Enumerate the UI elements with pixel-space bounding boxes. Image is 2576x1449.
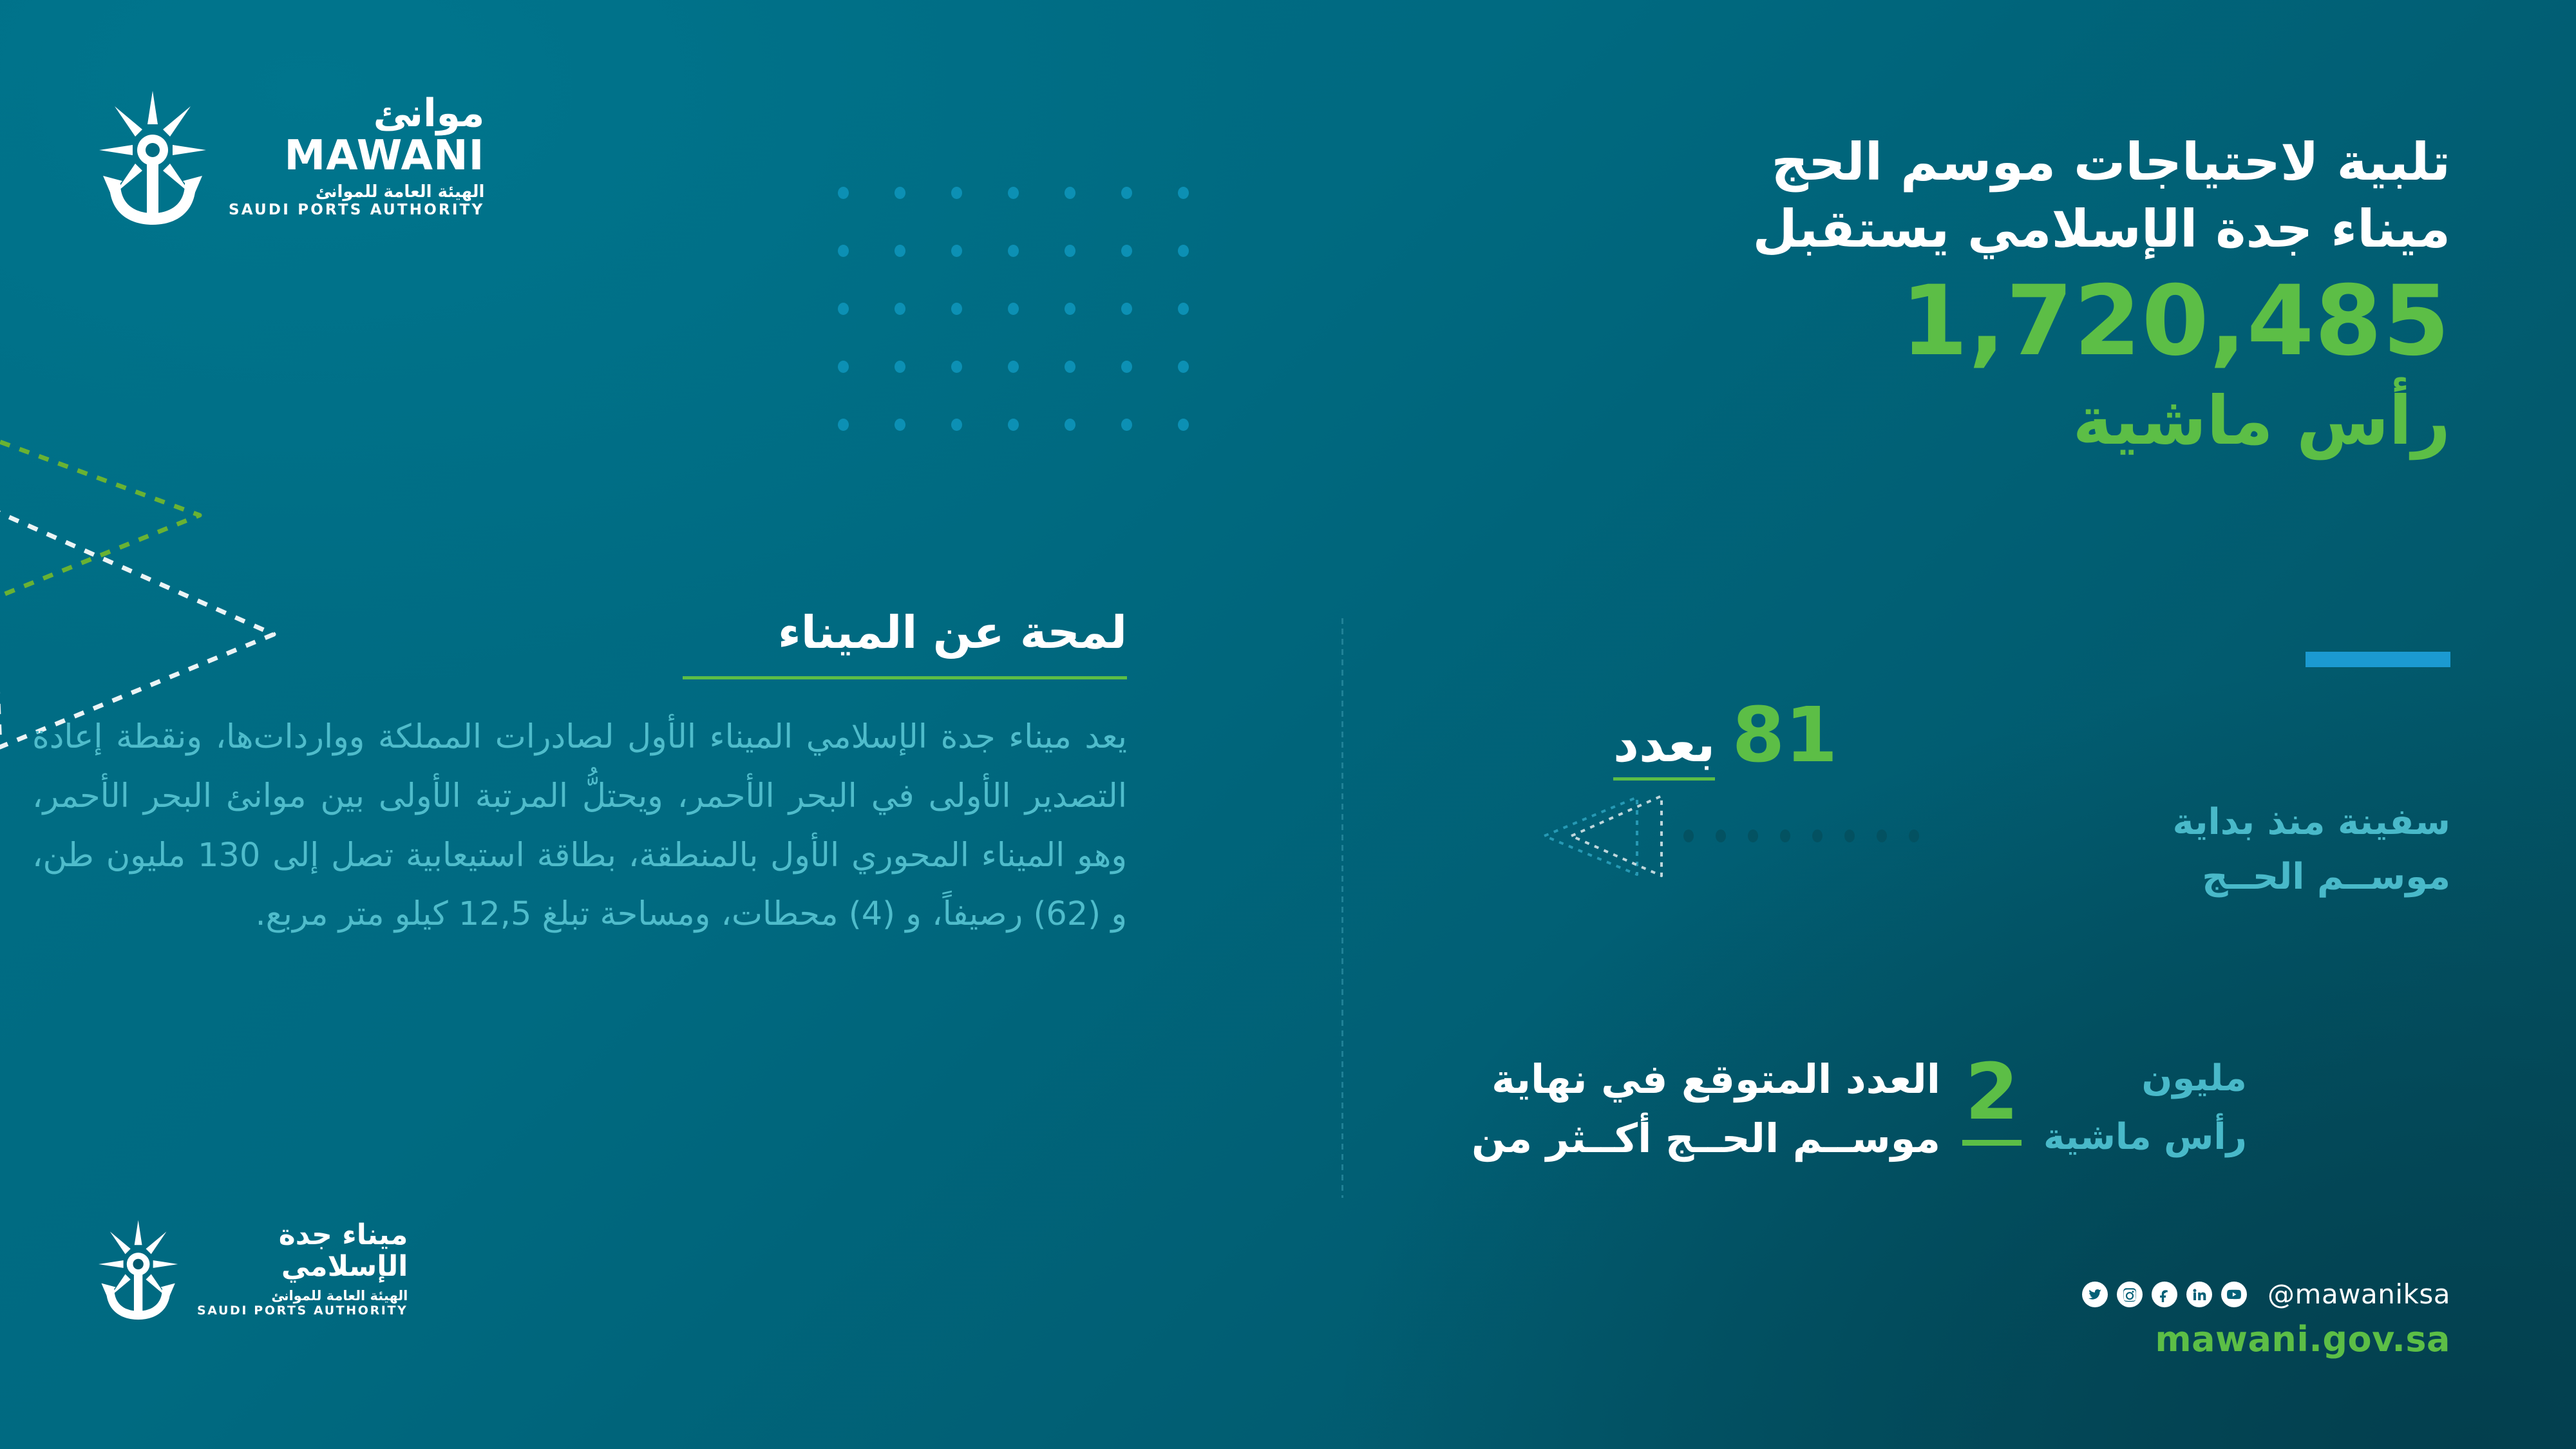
logo-english-subtitle: SAUDI PORTS AUTHORITY [229, 202, 484, 220]
headline-unit: رأس ماشية [1484, 381, 2450, 461]
youtube-icon[interactable] [2221, 1282, 2247, 1307]
facebook-icon[interactable] [2152, 1282, 2177, 1307]
headline-block: تلبية لاحتياجات موسم الحج ميناء جدة الإس… [1484, 129, 2450, 461]
expected-number-underline [1962, 1140, 2022, 1146]
footer-social-block: @mawaniksa mawani.gov.sa [2082, 1278, 2450, 1359]
logo-english-name: MAWANI [229, 135, 484, 176]
logo-arabic-name: موانئ [229, 93, 484, 134]
about-title: لمحة عن الميناء [32, 605, 1127, 659]
logo-arabic-subtitle: الهيئة العامة للموانئ [229, 183, 484, 202]
blue-separator-bar [2306, 652, 2450, 667]
headline-line-2: ميناء جدة الإسلامي يستقبل [1484, 196, 2450, 263]
vertical-divider [1341, 618, 1343, 1198]
port-logo-line1: ميناء جدة [197, 1219, 408, 1251]
about-title-underline [683, 676, 1127, 679]
jeddah-port-logo-bottom: ميناء جدة الإسلامي الهيئة العامة للموانئ… [97, 1217, 408, 1320]
ships-count-number: 81 [1732, 699, 1837, 772]
about-body-text: يعد ميناء جدة الإسلامي الميناء الأول لصا… [32, 708, 1127, 944]
about-port-section: لمحة عن الميناء يعد ميناء جدة الإسلامي ا… [32, 605, 1127, 944]
ships-sub-line-1: سفينة منذ بداية [1613, 795, 2450, 849]
expected-number: 2 [1965, 1052, 2019, 1133]
anchor-compass-icon [97, 1217, 180, 1320]
dot-grid-decoration [792, 187, 1189, 477]
twitter-icon[interactable] [2082, 1282, 2108, 1307]
expected-unit-line-2: رأس ماشية [2043, 1108, 2247, 1167]
expected-total-block: مليون رأس ماشية 2 العدد المتوقع في نهاية… [1472, 1050, 2450, 1168]
infographic-canvas: موانئ MAWANI الهيئة العامة للموانئ SAUDI… [0, 0, 2576, 1449]
port-logo-arabic-subtitle: الهيئة العامة للموانئ [197, 1288, 408, 1303]
expected-text-line-1: العدد المتوقع في نهاية [1472, 1050, 1940, 1109]
port-logo-english-subtitle: SAUDI PORTS AUTHORITY [197, 1303, 408, 1318]
expected-text-line-2: موســم الحــج أكــثر من [1472, 1109, 1940, 1168]
expected-unit-line-1: مليون [2043, 1050, 2247, 1108]
website-url[interactable]: mawani.gov.sa [2082, 1319, 2450, 1359]
headline-line-1: تلبية لاحتياجات موسم الحج [1484, 129, 2450, 196]
headline-big-number: 1,720,485 [1484, 263, 2450, 381]
linkedin-icon[interactable] [2186, 1282, 2212, 1307]
social-handle[interactable]: @mawaniksa [2268, 1278, 2450, 1310]
ships-sub-line-2: موســم الحــج [1613, 849, 2450, 904]
anchor-compass-icon [97, 87, 209, 225]
ships-stat-block: 81 بعدد سفينة منذ بداية موســم الحــج [1613, 699, 2450, 904]
mawani-logo-top: موانئ MAWANI الهيئة العامة للموانئ SAUDI… [97, 87, 484, 225]
instagram-icon[interactable] [2117, 1282, 2143, 1307]
ships-count-label: بعدد [1613, 715, 1715, 781]
port-logo-line2: الإسلامي [197, 1251, 408, 1282]
